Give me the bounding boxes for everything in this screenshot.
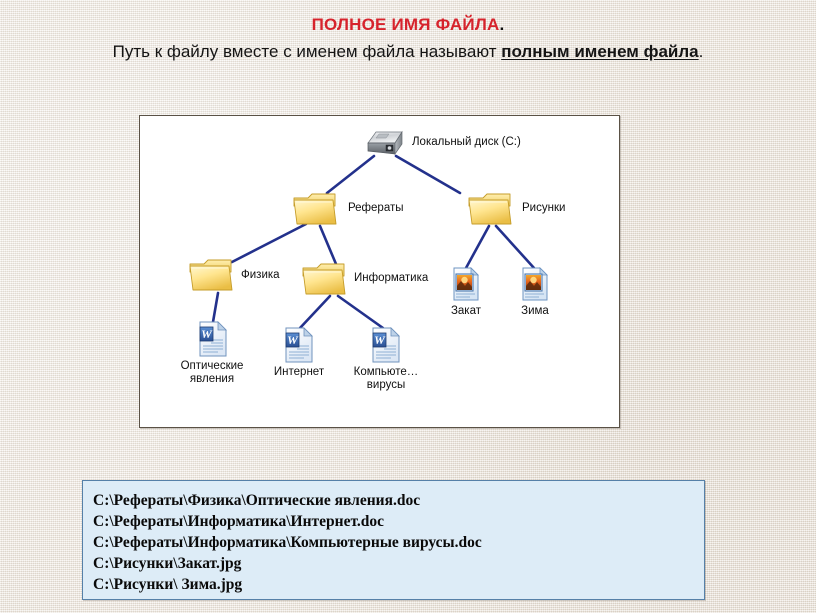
- svg-text:W: W: [201, 327, 213, 341]
- edge-fizika-opticheskie: [213, 293, 218, 322]
- node-informatika[interactable]: [301, 260, 347, 298]
- node-label-virusy-line1: Компьюте…: [354, 366, 419, 378]
- node-referaty[interactable]: [292, 190, 338, 228]
- node-label-fizika: Физика: [241, 269, 280, 282]
- node-label-risunki: Рисунки: [522, 202, 565, 215]
- subtitle: Путь к файлу вместе с именем файла назыв…: [0, 40, 816, 64]
- folder-icon: [467, 190, 513, 228]
- node-label-zima: Зима: [500, 305, 570, 318]
- folder-icon: [292, 190, 338, 228]
- node-label-opticheskie-line2: явления: [190, 373, 234, 385]
- node-label-disk: Локальный диск (C:): [412, 136, 521, 149]
- edge-informatika-virusy: [338, 296, 383, 328]
- path-line: C:\Рисунки\ Зима.jpg: [93, 574, 704, 595]
- folder-icon: [188, 256, 234, 294]
- edge-referaty-fizika: [232, 224, 306, 262]
- node-internet[interactable]: W: [284, 327, 314, 363]
- node-label-informatika: Информатика: [354, 272, 428, 285]
- node-label-virusy-line2: вирусы: [367, 379, 405, 391]
- node-label-zakat: Закат: [431, 305, 501, 318]
- word-document-icon: W: [284, 327, 314, 363]
- edge-disk-risunki: [396, 156, 460, 193]
- page-title-period: .: [499, 15, 504, 34]
- node-zima[interactable]: [521, 267, 549, 301]
- edge-risunki-zima: [496, 226, 534, 268]
- word-document-icon: W: [198, 321, 228, 357]
- page-title: ПОЛНОЕ ИМЯ ФАЙЛА.: [0, 14, 816, 36]
- node-virusy[interactable]: W: [371, 327, 401, 363]
- edge-referaty-informatika: [320, 226, 336, 264]
- image-file-icon: [452, 267, 480, 301]
- edge-risunki-zakat: [466, 226, 489, 268]
- node-opticheskie[interactable]: W: [198, 321, 228, 357]
- subtitle-period: .: [699, 42, 704, 61]
- subtitle-prefix: Путь к файлу вместе с именем файла назыв…: [113, 42, 502, 61]
- path-line: C:\Рисунки\Закат.jpg: [93, 553, 704, 574]
- path-line: C:\Рефераты\Информатика\Интернет.doc: [93, 511, 704, 532]
- node-label-internet: Интернет: [254, 366, 344, 379]
- subtitle-emphasis: полным именем файла: [501, 42, 698, 61]
- node-risunki[interactable]: [467, 190, 513, 228]
- node-label-opticheskie-line1: Оптические: [181, 360, 244, 372]
- folder-icon: [301, 260, 347, 298]
- path-line: C:\Рефераты\Физика\Оптические явления.do…: [93, 490, 704, 511]
- slide-header: ПОЛНОЕ ИМЯ ФАЙЛА. Путь к файлу вместе с …: [0, 0, 816, 64]
- path-line: C:\Рефераты\Информатика\Компьютерные вир…: [93, 532, 704, 553]
- edge-disk-referaty: [327, 156, 374, 193]
- hard-disk-icon: [365, 130, 405, 158]
- node-label-referaty: Рефераты: [348, 202, 404, 215]
- node-label-opticheskie: Оптические явления: [169, 360, 255, 386]
- file-tree-diagram: Локальный диск (C:): [139, 115, 620, 428]
- svg-text:W: W: [287, 333, 299, 347]
- node-label-virusy: Компьюте… вирусы: [336, 366, 436, 392]
- word-document-icon: W: [371, 327, 401, 363]
- page-title-text: ПОЛНОЕ ИМЯ ФАЙЛА: [312, 15, 500, 34]
- full-path-list: C:\Рефераты\Физика\Оптические явления.do…: [82, 480, 705, 600]
- node-disk[interactable]: [365, 130, 405, 158]
- node-zakat[interactable]: [452, 267, 480, 301]
- image-file-icon: [521, 267, 549, 301]
- svg-text:W: W: [374, 333, 386, 347]
- node-fizika[interactable]: [188, 256, 234, 294]
- edge-informatika-internet: [300, 296, 330, 328]
